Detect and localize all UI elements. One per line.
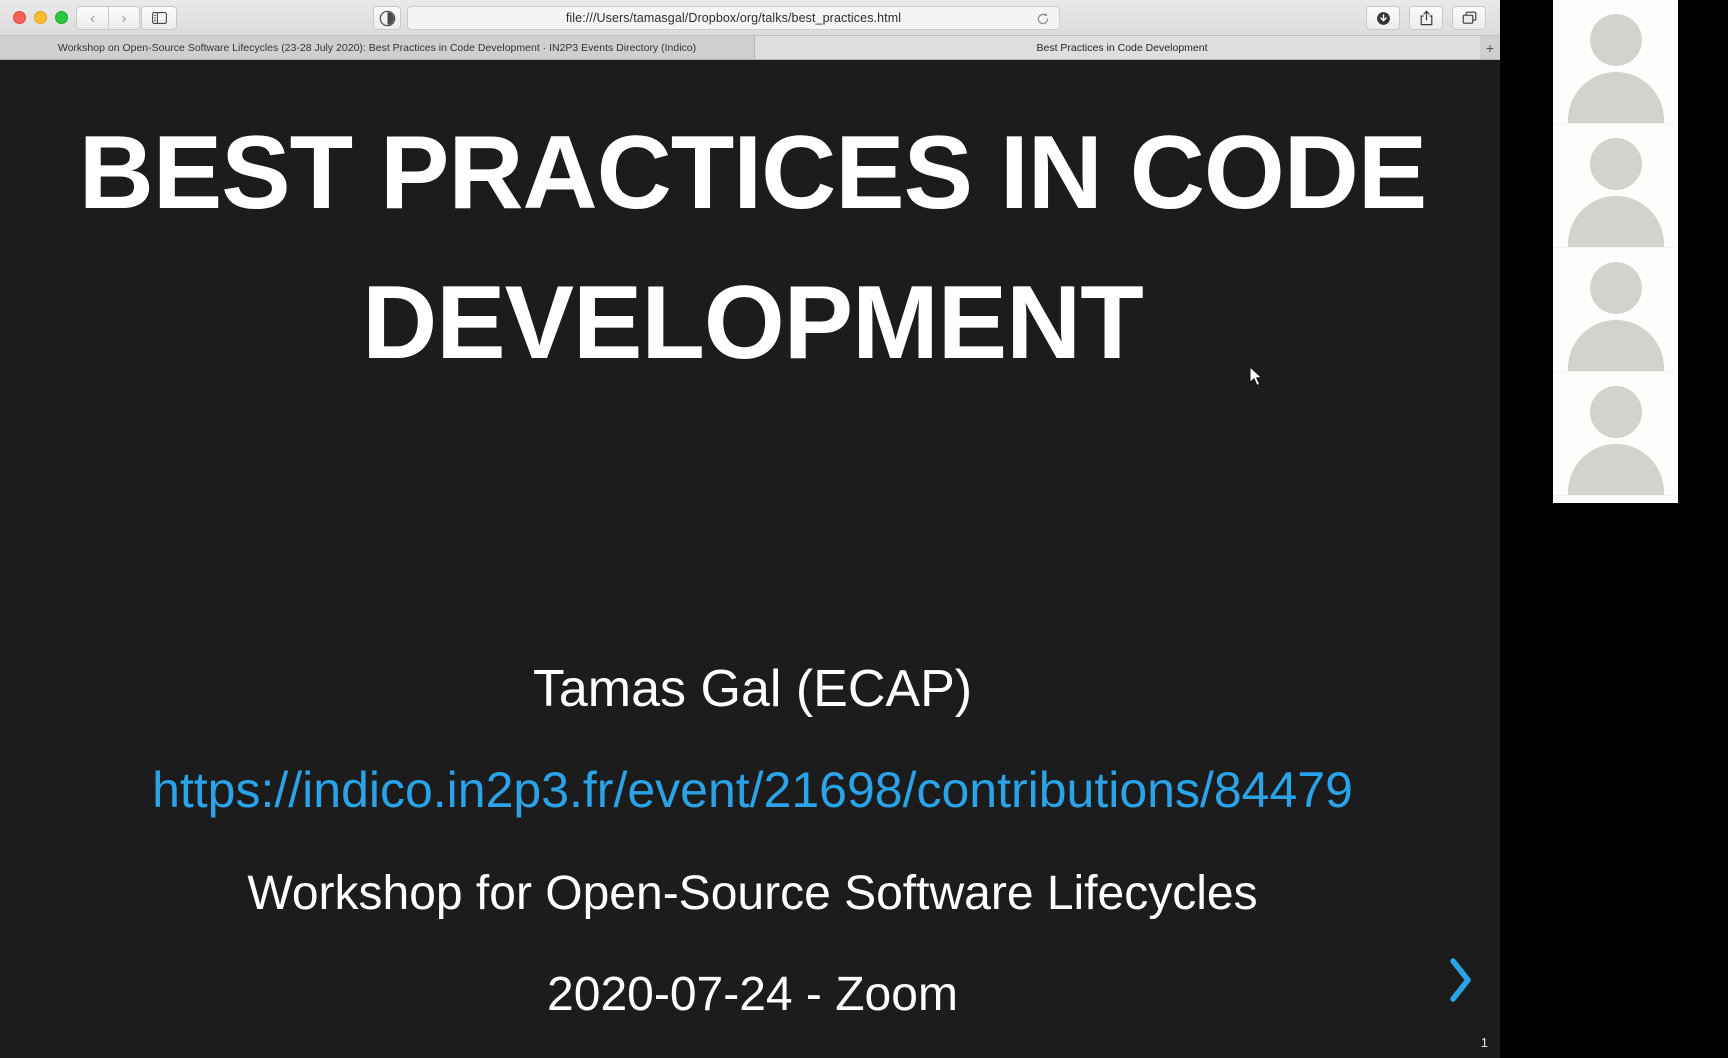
sidebar-icon [152, 12, 167, 24]
chevron-left-icon: ‹ [90, 10, 95, 27]
slide-title: BEST PRACTICES IN CODE DEVELOPMENT [5, 99, 1500, 399]
person-placeholder-icon [1568, 386, 1664, 496]
reader-icon [379, 10, 396, 27]
chevron-right-icon: › [122, 10, 127, 27]
address-bar[interactable]: file:///Users/tamasgal/Dropbox/org/talks… [407, 6, 1060, 30]
screen-root: ‹ › [0, 0, 1728, 1058]
window-controls [13, 11, 68, 24]
event-date: 2020-07-24 - Zoom [5, 967, 1500, 1022]
person-placeholder-icon [1568, 262, 1664, 372]
sidebar-toggle-button[interactable] [141, 6, 177, 30]
next-slide-button[interactable] [1440, 952, 1480, 1008]
slide-number: 1 [1481, 1035, 1488, 1050]
tab-bar: Workshop on Open-Source Software Lifecyc… [0, 36, 1500, 60]
downloads-button[interactable] [1366, 6, 1400, 30]
participant-tile[interactable] [1553, 372, 1678, 496]
presentation-slide: BEST PRACTICES IN CODE DEVELOPMENT Tamas… [5, 61, 1500, 1058]
chevron-right-icon [1445, 954, 1475, 1006]
zoom-participant-strip [1553, 0, 1678, 503]
minimize-window-button[interactable] [34, 11, 47, 24]
downloads-icon [1376, 11, 1391, 26]
tab-overview-button[interactable] [1452, 6, 1486, 30]
participant-tile[interactable] [1553, 248, 1678, 372]
reload-icon [1036, 12, 1050, 26]
tab-label: Workshop on Open-Source Software Lifecyc… [58, 42, 696, 54]
share-icon [1419, 10, 1434, 26]
share-button[interactable] [1409, 6, 1443, 30]
close-window-button[interactable] [13, 11, 26, 24]
reader-view-button[interactable] [373, 6, 401, 30]
url-text: file:///Users/tamasgal/Dropbox/org/talks… [566, 11, 901, 25]
navigation-buttons: ‹ › [76, 6, 140, 30]
participant-tile[interactable] [1553, 0, 1678, 124]
browser-window: ‹ › [0, 0, 1500, 1058]
back-button[interactable]: ‹ [76, 6, 108, 30]
tab-best-practices[interactable]: Best Practices in Code Development [755, 36, 1490, 59]
plus-icon: + [1486, 40, 1494, 56]
reload-button[interactable] [1035, 11, 1051, 27]
maximize-window-button[interactable] [55, 11, 68, 24]
forward-button[interactable]: › [108, 6, 140, 30]
participant-tile[interactable] [1553, 124, 1678, 248]
slide-link[interactable]: https://indico.in2p3.fr/event/21698/cont… [5, 761, 1500, 819]
tab-indico[interactable]: Workshop on Open-Source Software Lifecyc… [0, 36, 755, 59]
presenter-name: Tamas Gal (ECAP) [5, 659, 1500, 719]
person-placeholder-icon [1568, 138, 1664, 248]
event-name: Workshop for Open-Source Software Lifecy… [5, 866, 1500, 921]
tab-overview-icon [1462, 11, 1477, 25]
tab-label: Best Practices in Code Development [1037, 42, 1208, 54]
browser-toolbar: ‹ › [0, 0, 1500, 36]
person-placeholder-icon [1568, 14, 1664, 124]
new-tab-button[interactable]: + [1480, 36, 1500, 59]
